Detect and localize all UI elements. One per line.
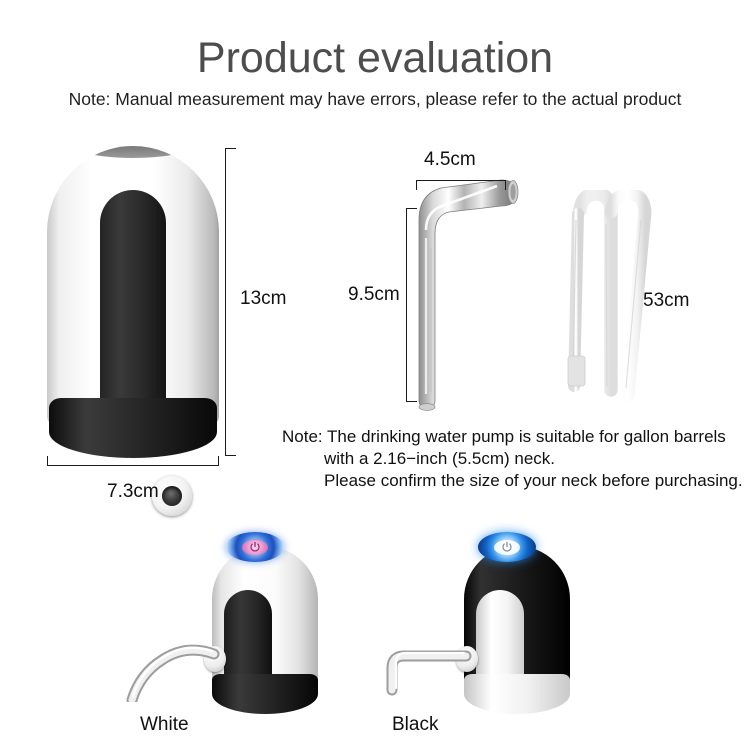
dimension-label-width-73cm: 7.3cm (107, 481, 159, 503)
height-bracket-main-pump (225, 148, 236, 456)
variant-label-white: White (140, 714, 189, 736)
power-button-core (494, 540, 520, 555)
height-bracket-spout (406, 208, 417, 402)
variant-pump-black (442, 528, 570, 713)
pump-base (49, 398, 217, 458)
product-evaluation-page: Product evaluation Note: Manual measurem… (0, 0, 750, 750)
width-bracket-main-pump (47, 456, 219, 466)
width-bracket-spout (416, 180, 506, 190)
page-title: Product evaluation (0, 34, 750, 83)
power-button[interactable] (478, 532, 536, 562)
pump-front-panel (100, 190, 166, 426)
power-symbol-icon (501, 541, 513, 553)
power-button[interactable] (226, 532, 284, 562)
variant-black-spout (370, 628, 480, 698)
dimension-label-height-13cm: 13cm (240, 288, 286, 310)
power-button-core (242, 540, 268, 555)
variant-pump-white (190, 528, 318, 713)
compat-note-line-2: with a 2.16−inch (5.5cm) neck. (282, 448, 743, 470)
pump-body (47, 146, 219, 426)
nozzle-inner-hole (162, 486, 182, 506)
compat-note-line-1: Note: The drinking water pump is suitabl… (282, 426, 743, 448)
variant-label-black: Black (392, 714, 438, 736)
variant-white-spout (118, 632, 228, 702)
measurement-disclaimer: Note: Manual measurement may have errors… (0, 89, 750, 110)
pump-top-rim (77, 146, 189, 158)
dimension-label-spout-95cm: 9.5cm (348, 284, 400, 306)
power-symbol-icon (249, 541, 261, 553)
dimension-label-spout-45cm: 4.5cm (424, 149, 476, 171)
hose-connector-fitting (568, 356, 585, 386)
compatibility-note: Note: The drinking water pump is suitabl… (282, 426, 743, 492)
compat-note-line-3: Please confirm the size of your neck bef… (282, 470, 743, 492)
main-pump-illustration (47, 146, 219, 458)
dimension-label-hose-53cm: 53cm (643, 290, 689, 312)
